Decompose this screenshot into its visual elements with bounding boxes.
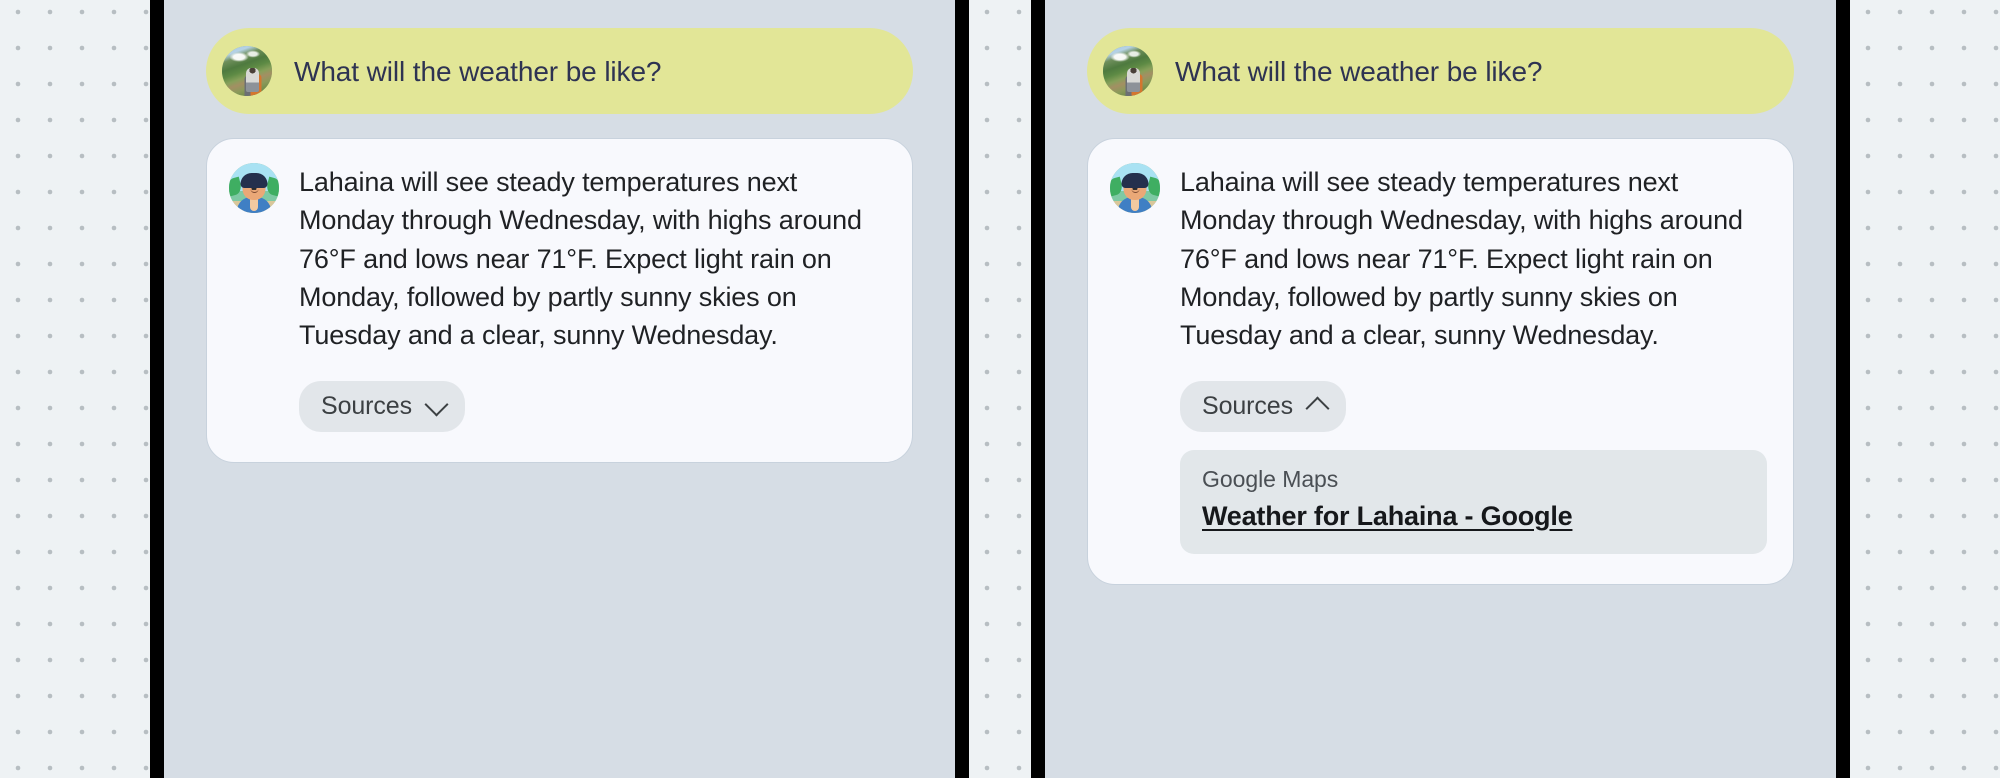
screenshot-stage: What will the weather be like? Lahai [0, 0, 2000, 778]
chevron-up-icon [1305, 396, 1329, 420]
assistant-illustration-avatar [229, 163, 279, 213]
avatar-smile [1131, 189, 1139, 193]
user-message-bubble: What will the weather be like? [206, 28, 913, 114]
avatar-hair [1122, 173, 1149, 188]
assistant-avatar [229, 163, 279, 213]
user-avatar [222, 46, 272, 96]
avatar-hair [241, 173, 268, 188]
dotted-background-left [0, 0, 150, 778]
hiker-photo-avatar [1103, 46, 1153, 96]
panel-separator-right [1836, 0, 1850, 778]
sources-card: Google Maps Weather for Lahaina - Google [1180, 450, 1767, 554]
sources-button-label: Sources [1202, 392, 1293, 421]
chevron-down-icon [424, 392, 448, 416]
source-provider-label: Google Maps [1202, 466, 1745, 493]
leaf-icon-right [1146, 177, 1160, 197]
assistant-message-bubble: Lahaina will see steady temperatures nex… [206, 138, 913, 463]
panel-separator-middle-a [955, 0, 969, 778]
sources-toggle-button[interactable]: Sources [299, 381, 465, 432]
avatar-smile [250, 189, 258, 193]
source-link[interactable]: Weather for Lahaina - Google [1202, 501, 1572, 532]
sources-button-label: Sources [321, 392, 412, 421]
sources-toggle-button[interactable]: Sources [1180, 381, 1346, 432]
assistant-message-body: Lahaina will see steady temperatures nex… [1180, 163, 1767, 554]
user-avatar [1103, 46, 1153, 96]
user-message-text: What will the weather be like? [1175, 54, 1542, 89]
hiker-photo-avatar [222, 46, 272, 96]
conversation-panel-collapsed: What will the weather be like? Lahai [164, 0, 955, 778]
assistant-illustration-avatar [1110, 163, 1160, 213]
panel-separator-left [150, 0, 164, 778]
dotted-background-middle [969, 0, 1031, 778]
conversation-panel-expanded: What will the weather be like? Lahai [1045, 0, 1836, 778]
dotted-background-right [1850, 0, 2000, 778]
user-message-text: What will the weather be like? [294, 54, 661, 89]
assistant-message-text: Lahaina will see steady temperatures nex… [1180, 163, 1767, 355]
panel-separator-middle-b [1031, 0, 1045, 778]
leaf-icon-right [265, 177, 279, 197]
assistant-message-body: Lahaina will see steady temperatures nex… [299, 163, 886, 432]
assistant-message-text: Lahaina will see steady temperatures nex… [299, 163, 886, 355]
assistant-message-bubble: Lahaina will see steady temperatures nex… [1087, 138, 1794, 585]
user-message-bubble: What will the weather be like? [1087, 28, 1794, 114]
assistant-avatar [1110, 163, 1160, 213]
